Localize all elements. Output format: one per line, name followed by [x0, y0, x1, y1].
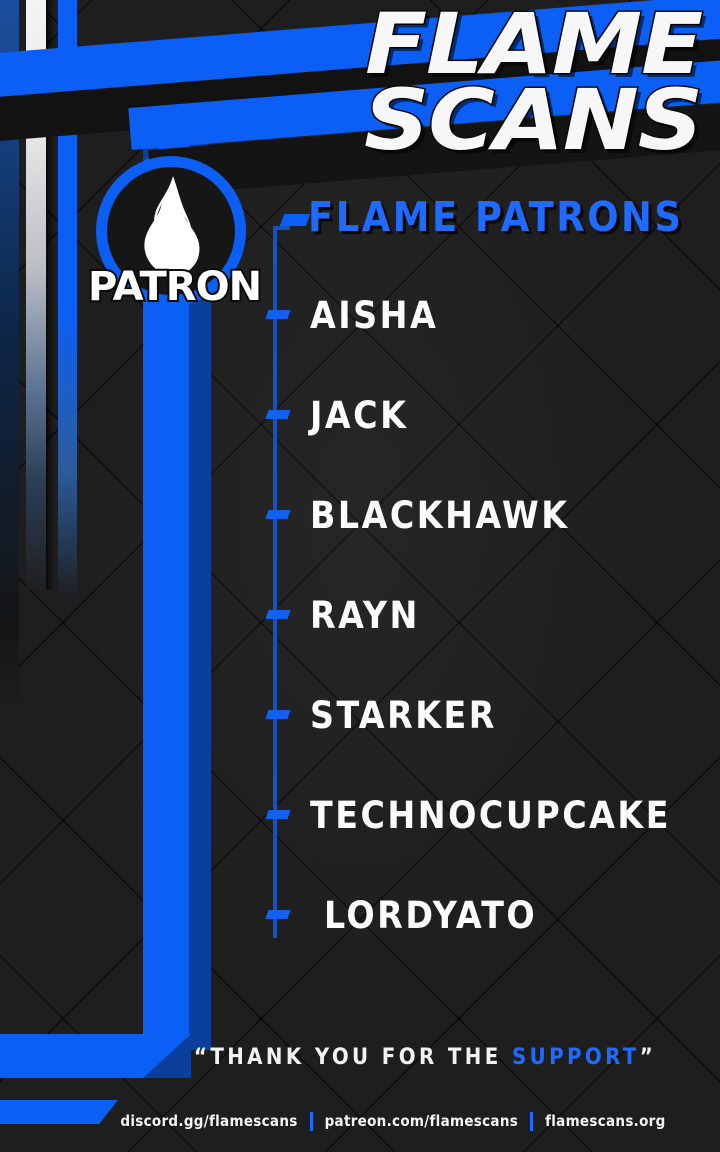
section-heading-label: FLAME PATRONS — [308, 193, 684, 241]
footer-link[interactable]: flamescans.org — [545, 1112, 666, 1130]
patron-dash-marker — [265, 910, 290, 919]
patron-dash-marker — [265, 810, 290, 819]
patron-dash-marker — [265, 510, 290, 519]
patrons-list: AISHAJACKBLACKHAWKRAYNSTARKERTECHNOCUPCA… — [262, 265, 712, 965]
footer-links: discord.gg/flamescanspatreon.com/flamesc… — [0, 1104, 720, 1138]
patron-row: BLACKHAWK — [262, 465, 712, 565]
patron-name: BLACKHAWK — [262, 494, 570, 537]
patron-dash-marker — [265, 310, 290, 319]
footer-link[interactable]: discord.gg/flamescans — [120, 1112, 297, 1130]
title-line-scans: SCANS — [0, 84, 702, 156]
footer-separator — [310, 1112, 313, 1131]
footer-separator — [530, 1112, 533, 1131]
thanks-open-quote: “ — [194, 1045, 210, 1070]
patron-row: LORDYATO — [262, 865, 712, 965]
patron-name: STARKER — [262, 694, 497, 737]
patrons-section: FLAME PATRONS AISHAJACKBLACKHAWKRAYNSTAR… — [262, 196, 712, 965]
footer-link[interactable]: patreon.com/flamescans — [325, 1112, 519, 1130]
thanks-prefix: THANK YOU FOR THE — [210, 1045, 512, 1070]
thank-you-bar: “THANK YOU FOR THE SUPPORT” — [0, 1034, 720, 1080]
patron-row: STARKER — [262, 665, 712, 765]
section-heading: FLAME PATRONS — [262, 196, 712, 239]
thanks-close-quote: ” — [640, 1045, 656, 1070]
patron-row: RAYN — [262, 565, 712, 665]
patron-poster: FLAME SCANS PATRON FLAME PATRONS AISHAJA… — [0, 0, 720, 1152]
thanks-highlight: SUPPORT — [512, 1045, 640, 1070]
patron-dash-marker — [265, 610, 290, 619]
patron-name: LORDYATO — [262, 894, 537, 937]
patron-logo-badge: PATRON — [96, 156, 246, 306]
patron-dash-marker — [265, 410, 290, 419]
title-line-flame: FLAME — [0, 8, 702, 80]
flame-icon — [128, 174, 214, 278]
patron-row: AISHA — [262, 265, 712, 365]
thank-you-text: “THANK YOU FOR THE SUPPORT” — [64, 1045, 656, 1070]
heading-dash-marker — [280, 214, 310, 226]
patron-row: JACK — [262, 365, 712, 465]
patron-row: TECHNOCUPCAKE — [262, 765, 712, 865]
patron-dash-marker — [265, 710, 290, 719]
logo-wordmark: PATRON — [88, 264, 254, 310]
patron-name: TECHNOCUPCAKE — [262, 794, 671, 837]
